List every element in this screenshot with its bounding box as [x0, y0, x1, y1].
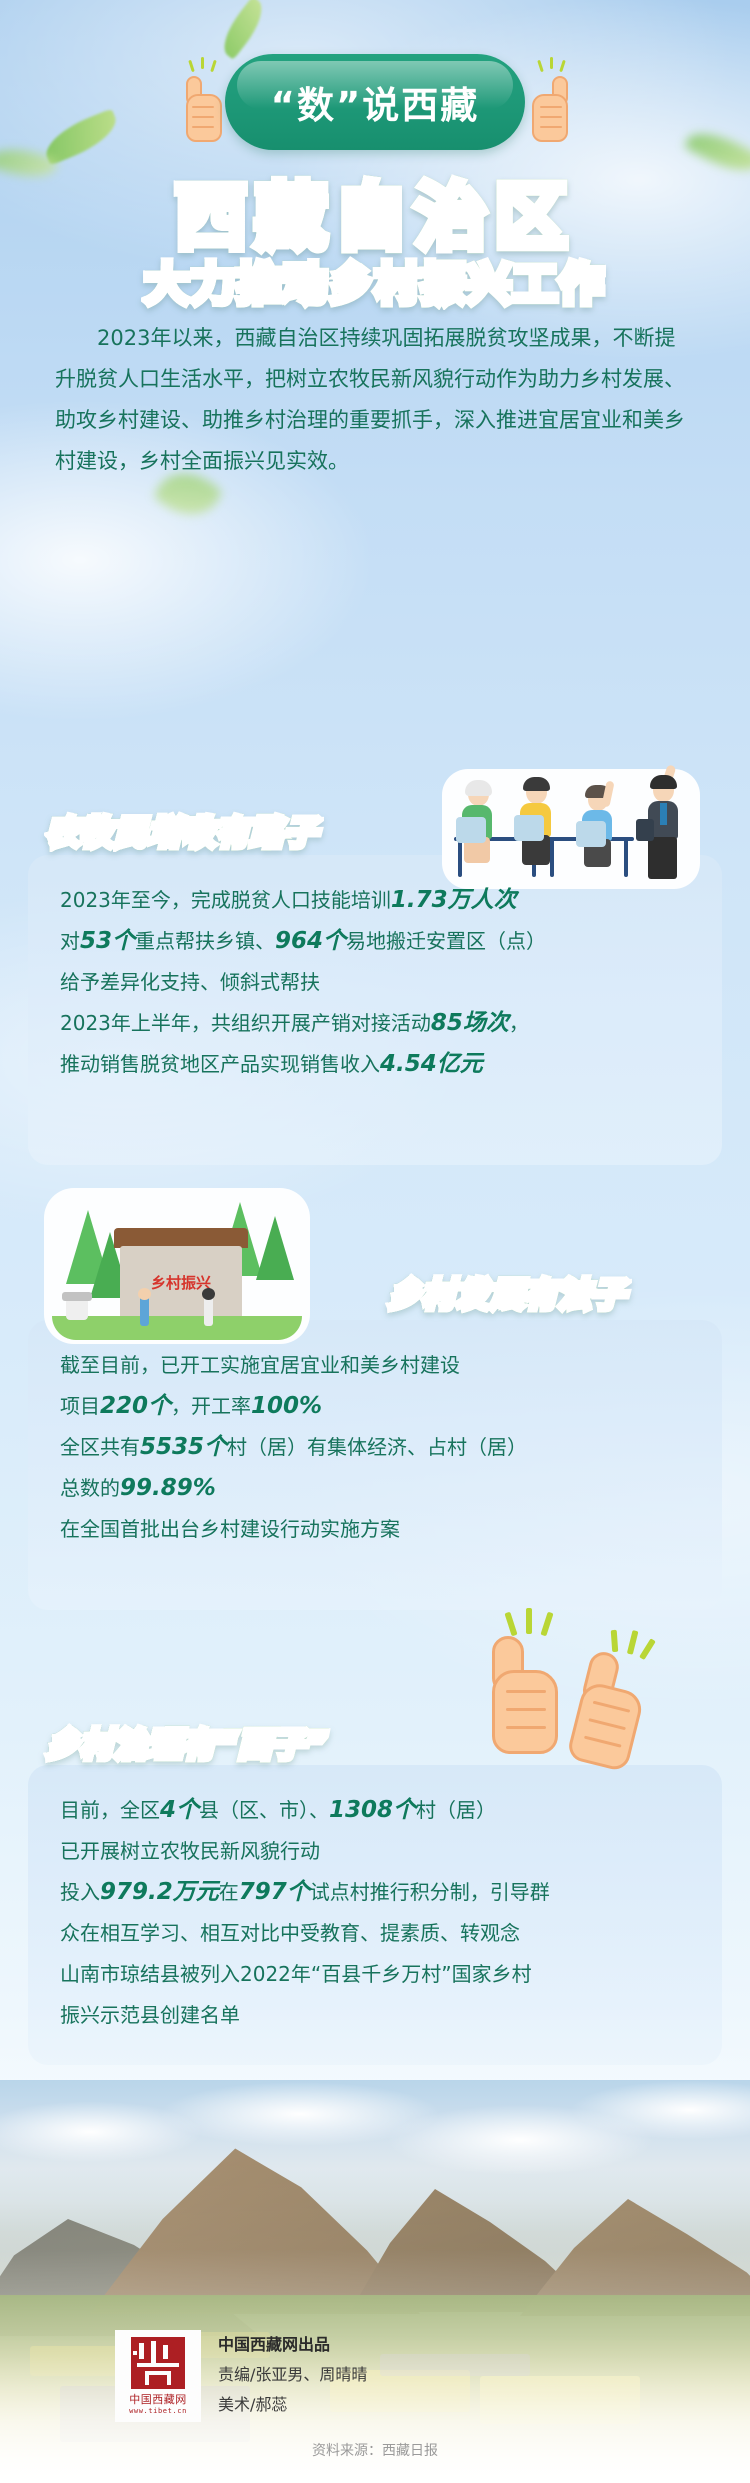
section-1-line: 推动销售脱贫地区产品实现销售收入4.54亿元	[60, 1044, 700, 1085]
page-subtitle: 大力推动乡村振兴工作	[0, 248, 750, 312]
producer-line: 中国西藏网出品	[218, 2330, 548, 2360]
section-3-heading-text: 乡村治理有“面子”	[46, 1725, 329, 1764]
section-2-heading: 乡村发展有法子	[388, 1268, 626, 1316]
section-1-body: 2023年至今，完成脱贫人口技能培训1.73万人次 对53个重点帮扶乡镇、964…	[60, 880, 700, 1085]
section-2-line: 在全国首批出台乡村建设行动实施方案	[60, 1509, 700, 1550]
section-2-body: 截至目前，已开工实施宜居宜业和美乡村建设 项目220个，开工率100% 全区共有…	[60, 1345, 700, 1550]
page-title-text: 西藏自治区	[175, 175, 575, 259]
classroom-training-icon	[448, 775, 694, 883]
source-line: 资料来源：西藏日报	[0, 2440, 750, 2460]
section-1-line: 给予差异化支持、倾斜式帮扶	[60, 962, 700, 1003]
section-3-line: 振兴示范县创建名单	[60, 1995, 704, 2036]
village-revitalization-icon: 乡村振兴	[52, 1198, 302, 1338]
photo-fade-overlay	[0, 2080, 750, 2483]
roof-icon	[114, 1228, 248, 1248]
section-3-body: 目前，全区4个县（区、市）、1308个村（居） 已开展树立农牧民新风貌行动 投入…	[60, 1790, 704, 2036]
section-1-line: 2023年至今，完成脱贫人口技能培训1.73万人次	[60, 880, 700, 921]
editor-line: 责编/张亚男、周晴晴	[218, 2360, 548, 2390]
section-2-line: 全区共有5535个村（居）有集体经济、占村（居）	[60, 1427, 700, 1468]
section-2-line: 总数的99.89%	[60, 1468, 700, 1509]
intro-paragraph: 2023年以来，西藏自治区持续巩固拓展脱贫攻坚成果，不断提升脱贫人口生活水平，把…	[55, 318, 695, 482]
section-3-line: 已开展树立农牧民新风貌行动	[60, 1831, 704, 1872]
tibet-net-logo-icon	[131, 2337, 185, 2389]
credits-block: 中国西藏网出品 责编/张亚男、周晴晴 美术/郝蕊	[218, 2330, 548, 2420]
section-1-line: 2023年上半年，共组织开展产销对接活动85场次，	[60, 1003, 700, 1044]
page-subtitle-text: 大力推动乡村振兴工作	[145, 259, 605, 310]
section-3-heading: 乡村治理有“面子”	[46, 1718, 329, 1766]
section-2-heading-text: 乡村发展有法子	[388, 1275, 626, 1314]
logo-name: 中国西藏网	[129, 2391, 187, 2407]
section-3-line: 众在相互学习、相互对比中受教育、提素质、转观念	[60, 1913, 704, 1954]
section-2-line: 截至目前，已开工实施宜居宜业和美乡村建设	[60, 1345, 700, 1386]
art-line: 美术/郝蕊	[218, 2390, 548, 2420]
section-1-heading-text: 农牧民增收有路子	[46, 813, 318, 852]
badge-label: “数”说西藏	[0, 48, 750, 156]
section-3-line: 投入979.2万元在797个试点村推行积分制，引导群	[60, 1872, 704, 1913]
site-logo: 中国西藏网 www.tibet.cn	[115, 2330, 201, 2422]
section-1-heading: 农牧民增收有路子	[46, 806, 318, 854]
section-3-line: 山南市琼结县被列入2022年“百县千乡万村”国家乡村	[60, 1954, 704, 1995]
two-thumbs-up-icon	[480, 1608, 670, 1768]
thumbs-up-icon	[486, 1614, 568, 1756]
thumbs-up-icon	[558, 1626, 672, 1784]
section-3-line: 目前，全区4个县（区、市）、1308个村（居）	[60, 1790, 704, 1831]
badge-header: “数”说西藏	[0, 48, 750, 156]
logo-url: www.tibet.cn	[129, 2407, 187, 2415]
thumbs-up-icon	[528, 66, 572, 142]
section-1-line: 对53个重点帮扶乡镇、964个易地搬迁安置区（点）	[60, 921, 700, 962]
section-2-line: 项目220个，开工率100%	[60, 1386, 700, 1427]
